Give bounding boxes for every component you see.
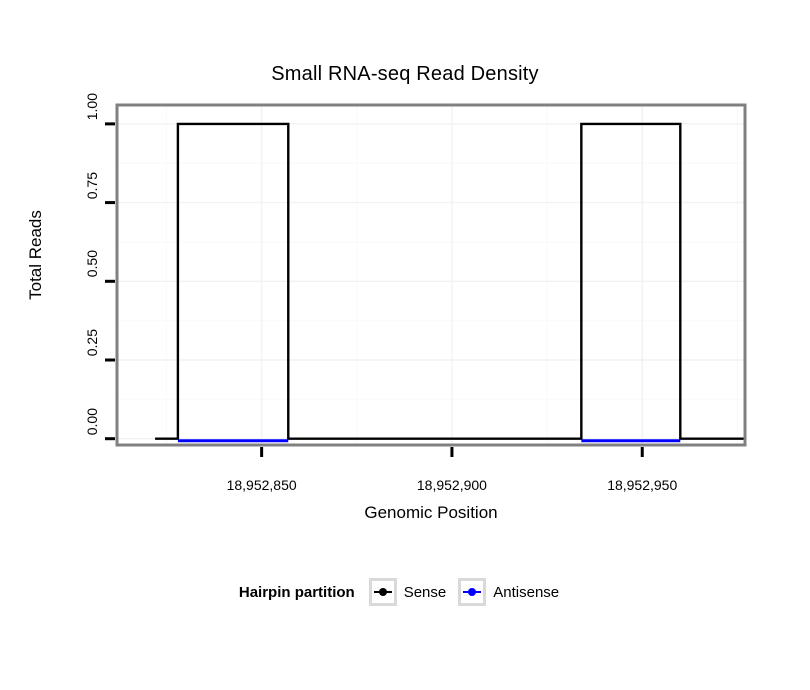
chart-legend: Hairpin partition Sense Antisense — [0, 578, 810, 606]
plot-panel-background — [117, 105, 745, 445]
legend-key-antisense-icon — [458, 578, 486, 606]
legend-key-sense-icon — [369, 578, 397, 606]
legend-title: Hairpin partition — [239, 584, 355, 601]
legend-label-antisense: Antisense — [493, 584, 559, 601]
legend-label-sense: Sense — [404, 584, 447, 601]
chart-figure: Small RNA-seq Read Density Total Reads G… — [0, 0, 810, 690]
legend-item-sense[interactable]: Sense — [369, 578, 447, 606]
legend-item-antisense[interactable]: Antisense — [458, 578, 559, 606]
